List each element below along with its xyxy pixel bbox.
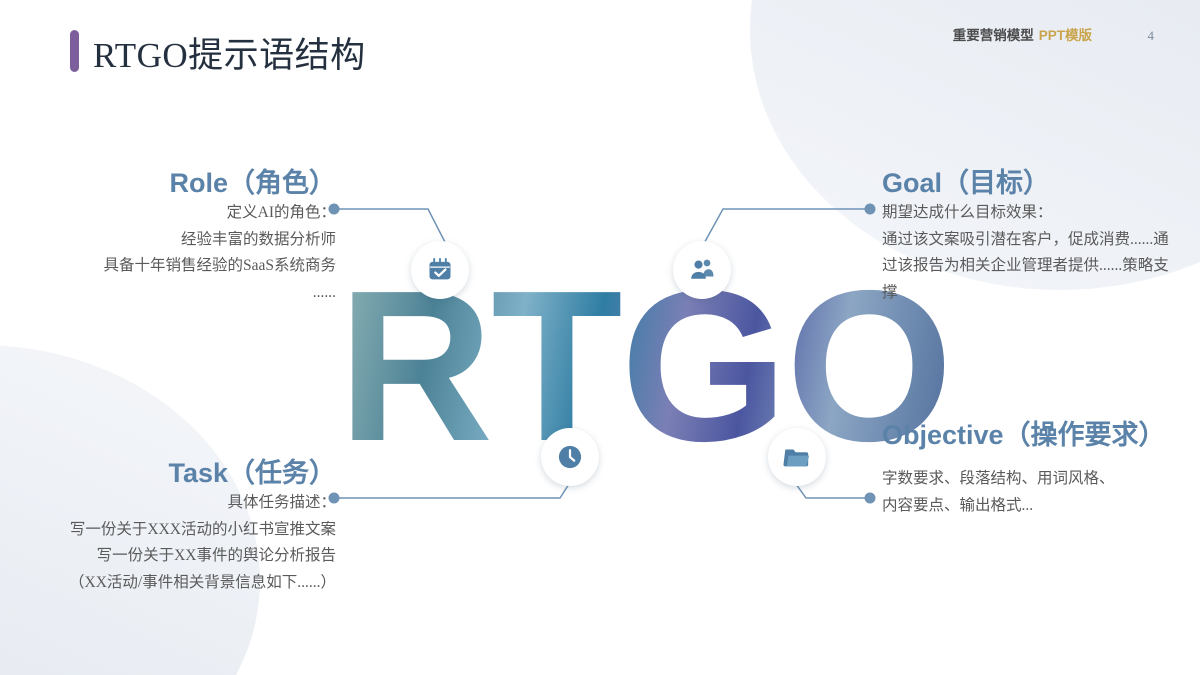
section-goal-body: 期望达成什么目标效果： 通过该文案吸引潜在客户，促成消费......通过该报告为… [882, 200, 1182, 307]
brand-sub-text: PPT模版 [1039, 28, 1092, 43]
section-objective-heading: Objective（操作要求） [882, 420, 1182, 452]
section-goal-heading: Goal（目标） [882, 168, 1182, 200]
icon-bubble-task[interactable] [541, 428, 599, 486]
folder-icon [783, 443, 811, 471]
section-objective: Objective（操作要求） 字数要求、段落结构、用词风格、 内容要点、输出格… [882, 420, 1182, 519]
section-task-line: 写一份关于XX事件的舆论分析报告 [18, 543, 336, 570]
connector-dot-goal [865, 204, 876, 215]
clock-icon [556, 443, 584, 471]
page-title: RTGO提示语结构 [93, 27, 366, 78]
section-goal-line: 通过该文案吸引潜在客户，促成消费......通过该报告为相关企业管理者提供...… [882, 227, 1182, 307]
section-task-line: （XX活动/事件相关背景信息如下......） [18, 570, 336, 597]
brand-label: 重要营销模型PPT模版 [953, 24, 1092, 44]
section-objective-body: 字数要求、段落结构、用词风格、 内容要点、输出格式... [882, 466, 1182, 519]
title-accent-bar [70, 30, 79, 72]
section-role-line: 经验丰富的数据分析师 [18, 227, 336, 254]
icon-bubble-role[interactable] [411, 241, 469, 299]
section-role-line: 定义AI的角色： [18, 200, 336, 227]
section-task-body: 具体任务描述： 写一份关于XXX活动的小红书宣推文案 写一份关于XX事件的舆论分… [18, 490, 336, 597]
section-role-line: 具备十年销售经验的SaaS系统商务 [18, 253, 336, 280]
connector-role [338, 209, 447, 246]
section-task-line: 具体任务描述： [18, 490, 336, 517]
connector-dot-objective [865, 493, 876, 504]
icon-bubble-objective[interactable] [768, 428, 826, 486]
calendar-check-icon [426, 256, 454, 284]
section-objective-line: 字数要求、段落结构、用词风格、 [882, 466, 1182, 493]
section-task-heading: Task（任务） [18, 458, 336, 490]
icon-bubble-goal[interactable] [673, 241, 731, 299]
brand-main-text: 重要营销模型 [953, 28, 1034, 43]
section-task-line: 写一份关于XXX活动的小红书宣推文案 [18, 517, 336, 544]
section-task: Task（任务） 具体任务描述： 写一份关于XXX活动的小红书宣推文案 写一份关… [18, 458, 336, 596]
section-objective-line: 内容要点、输出格式... [882, 493, 1182, 520]
page-number: 4 [1148, 28, 1155, 44]
section-role-heading: Role（角色） [18, 168, 336, 200]
section-role-line: ...... [18, 280, 336, 307]
section-goal: Goal（目标） 期望达成什么目标效果： 通过该文案吸引潜在客户，促成消费...… [882, 168, 1182, 306]
section-goal-line: 期望达成什么目标效果： [882, 200, 1182, 227]
section-role-body: 定义AI的角色： 经验丰富的数据分析师 具备十年销售经验的SaaS系统商务 ..… [18, 200, 336, 307]
users-icon [688, 256, 716, 284]
section-role: Role（角色） 定义AI的角色： 经验丰富的数据分析师 具备十年销售经验的Sa… [18, 168, 336, 306]
connector-goal [702, 209, 866, 247]
slide-canvas: RTGO提示语结构 重要营销模型PPT模版 4 RTGO [0, 0, 1200, 675]
